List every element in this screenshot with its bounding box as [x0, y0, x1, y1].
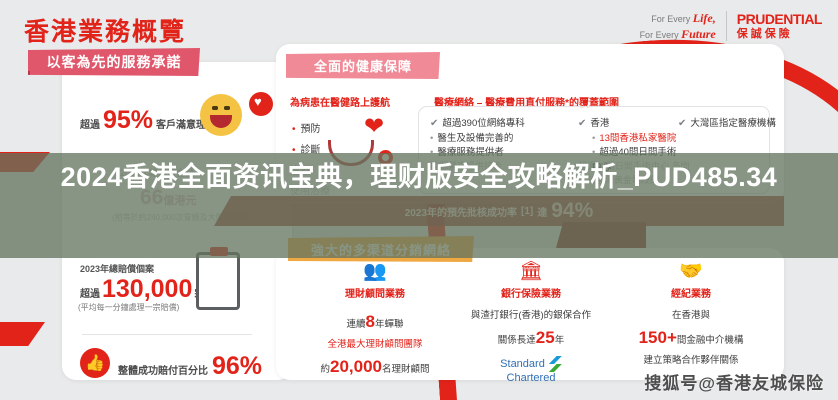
- left-card-divider: [82, 334, 252, 335]
- satisfaction-prefix: 超過: [80, 116, 100, 131]
- people-group-icon: 👥: [292, 262, 458, 281]
- claims-number: 130,000: [102, 275, 192, 304]
- smiley-face-icon: [200, 94, 242, 136]
- brokerage-line-1: 在香港與: [608, 308, 774, 324]
- handshake-icon: 🤝: [608, 262, 774, 281]
- success-rate-value: 96%: [212, 352, 262, 381]
- advisory-line-3: 約20,000名理財顧問: [292, 353, 458, 382]
- standard-chartered-logo: Standard Chartered: [448, 356, 614, 385]
- red-tab-left-lower: [0, 322, 45, 346]
- brokerage-line-2: 150+間金融中介機構: [608, 324, 774, 353]
- bancassurance-line2-prefix: 關係長達: [498, 335, 536, 346]
- ribbon-health-coverage: 全面的健康保障: [286, 52, 440, 79]
- ribbon-service-promise: 以客為先的服務承諾: [28, 48, 200, 76]
- brand-name-zh: 保誠保險: [737, 28, 822, 42]
- advisory-line1-suffix: 年蟬聯: [375, 319, 404, 330]
- bancassurance-line-1: 與渣打銀行(香港)的銀保合作: [448, 308, 614, 324]
- network-check-hongkong-line-1: 13間香港私家醫院: [592, 132, 678, 147]
- claims-note: (平均每一分鐘處理一宗賠償): [78, 302, 179, 313]
- claims-count-value: 超過 130,000 宗: [80, 275, 204, 304]
- bancassurance-line2-suffix: 年: [555, 335, 565, 346]
- claims-prefix: 超過: [80, 285, 100, 300]
- brokerage-line2-suffix: 間金融中介機構: [677, 335, 744, 346]
- brand-name: PRUDENTIAL 保誠保險: [737, 11, 822, 42]
- brokerage-title: 經紀業務: [608, 285, 774, 300]
- advisory-line1-prefix: 連續: [347, 319, 366, 330]
- bancassurance-years: 25: [536, 328, 555, 347]
- bank-building-icon: 🏛: [448, 262, 614, 281]
- network-check-greaterbay-title: 大灣區指定醫療機構: [690, 118, 776, 129]
- bancassurance-title: 銀行保險業務: [448, 285, 614, 300]
- tagline-line-1: For Every Life,: [640, 10, 716, 26]
- tagline-prefix-1: For Every: [651, 14, 693, 24]
- advisory-line-1: 連續8年蟬聯: [292, 308, 458, 337]
- site-watermark: 搜狐号@香港友城保险: [644, 369, 824, 394]
- network-check-specialists-title: 超過390位網絡專科: [442, 118, 524, 129]
- overlay-headline: 2024香港全面资讯宝典，理财版安全攻略解析_PUD485.34: [0, 158, 838, 196]
- check-icon: ✔: [678, 118, 686, 129]
- brokerage-count: 150+: [639, 328, 677, 347]
- infographic-canvas: 香港業務概覽 For Every Life, For Every Future …: [0, 0, 838, 400]
- bancassurance-body: 與渣打銀行(香港)的銀保合作 關係長達25年 Standard Chartere…: [448, 308, 614, 385]
- distribution-column-advisory: 👥 理財顧問業務 連續8年蟬聯 全港最大理財顧問團隊 約20,000名理財顧問: [292, 262, 458, 382]
- network-check-hongkong-title: 香港: [590, 118, 609, 129]
- bancassurance-line-2: 關係長達25年: [448, 324, 614, 353]
- prudential-brand-lockup: For Every Life, For Every Future PRUDENT…: [640, 10, 822, 42]
- heart-badge-icon: [249, 92, 273, 116]
- health-nav-heading: 為病患在醫健路上護航: [290, 94, 390, 109]
- satisfaction-value: 95%: [103, 106, 153, 135]
- success-rate-label: 整體成功賠付百分比: [118, 362, 208, 377]
- network-check-greaterbay: ✔大灣區指定醫療機構: [678, 116, 788, 132]
- standard-chartered-mark-icon: [549, 356, 562, 372]
- clipboard-icon: [196, 252, 240, 310]
- distribution-column-bancassurance: 🏛 銀行保險業務 與渣打銀行(香港)的銀保合作 關係長達25年 Standard…: [448, 262, 614, 385]
- advisory-line3-suffix: 名理財顧問: [382, 364, 430, 375]
- health-bullet-prevention: 預防: [292, 120, 321, 135]
- success-rate-stat: 整體成功賠付百分比 96%: [118, 352, 262, 381]
- check-icon: ✔: [578, 118, 586, 129]
- claims-count-label: 2023年總賠償個案: [80, 262, 154, 275]
- page-title: 香港業務概覽: [24, 12, 186, 48]
- tagline-prefix-2: For Every: [640, 30, 682, 40]
- heartbeat-icon: ❤: [364, 112, 384, 141]
- advisory-body: 連續8年蟬聯 全港最大理財顧問團隊 約20,000名理財顧問: [292, 308, 458, 382]
- network-check-specialists-line-1: 醫生及設備完善的: [430, 132, 570, 147]
- brand-name-en: PRUDENTIAL: [737, 11, 822, 29]
- sc-logo-line-1: Standard: [500, 358, 545, 370]
- advisory-years: 8: [366, 312, 375, 331]
- brand-divider: [726, 11, 727, 41]
- brand-tagline: For Every Life, For Every Future: [640, 10, 716, 42]
- thumbs-up-icon: 👍: [80, 348, 110, 378]
- sc-logo-line-2: Chartered: [448, 372, 614, 385]
- advisory-line3-prefix: 約: [320, 364, 330, 375]
- advisory-title: 理財顧問業務: [292, 285, 458, 300]
- check-icon: ✔: [430, 118, 438, 129]
- brokerage-line-3: 建立策略合作夥伴關係: [608, 353, 774, 369]
- distribution-column-brokerage: 🤝 經紀業務 在香港與 150+間金融中介機構 建立策略合作夥伴關係: [608, 262, 774, 369]
- tagline-em-2: Future: [681, 27, 716, 41]
- tagline-em-1: Life,: [693, 11, 716, 25]
- tagline-line-2: For Every Future: [640, 26, 716, 42]
- advisory-line-2: 全港最大理財顧問團隊: [292, 337, 458, 353]
- advisory-count: 20,000: [330, 357, 382, 376]
- brokerage-body: 在香港與 150+間金融中介機構 建立策略合作夥伴關係: [608, 308, 774, 369]
